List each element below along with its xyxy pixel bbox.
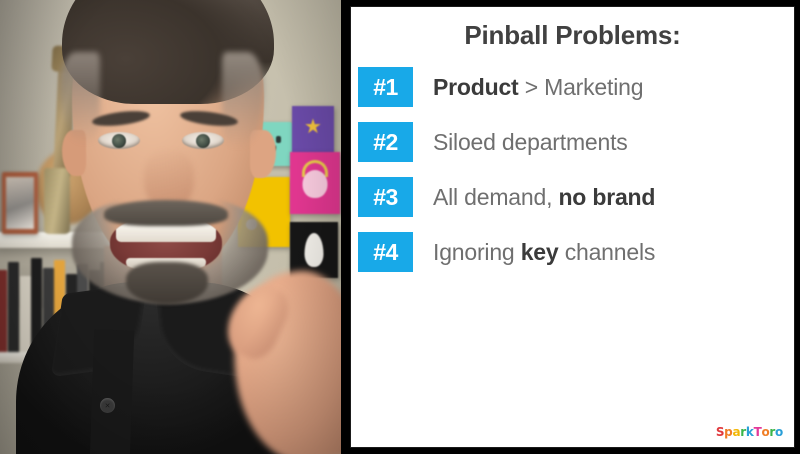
rank-badge-3: #3: [358, 177, 413, 217]
presenter: [0, 0, 341, 454]
logo-letter-4: k: [746, 425, 754, 439]
list-item[interactable]: #3 All demand, no brand: [351, 177, 794, 217]
list-item[interactable]: #1 Product > Marketing: [351, 67, 794, 107]
shirt-button: [100, 398, 115, 413]
webcam-video-pane[interactable]: ★: [0, 0, 341, 454]
problem-rest-4a: Ignoring: [433, 239, 521, 265]
rank-badge-4: #4: [358, 232, 413, 272]
problem-text-3: All demand, no brand: [433, 184, 655, 211]
problem-text-4: Ignoring key channels: [433, 239, 655, 266]
logo-letter-5: T: [754, 425, 762, 439]
sparktoro-logo[interactable]: SparkToro: [716, 425, 783, 439]
page-title: Pinball Problems:: [351, 20, 794, 51]
rank-badge-2: #2: [358, 122, 413, 162]
iris-left: [112, 134, 126, 148]
problem-bold-3: no brand: [558, 184, 655, 210]
logo-letter-1: p: [724, 425, 732, 439]
eye-left: [98, 132, 140, 149]
problem-rest-1: > Marketing: [519, 74, 644, 100]
logo-letter-8: o: [775, 425, 783, 439]
problem-text-2: Siloed departments: [433, 129, 628, 156]
problem-rest-4b: channels: [559, 239, 656, 265]
problem-rest-3: All demand,: [433, 184, 558, 210]
mustache: [104, 200, 228, 226]
logo-letter-6: o: [761, 425, 769, 439]
sideburn-left: [60, 52, 100, 144]
problem-bold-4: key: [521, 239, 559, 265]
problem-list: #1 Product > Marketing #2 Siloed departm…: [351, 67, 794, 272]
problem-text-1: Product > Marketing: [433, 74, 643, 101]
list-item[interactable]: #4 Ignoring key channels: [351, 232, 794, 272]
rank-badge-1: #1: [358, 67, 413, 107]
goatee: [126, 262, 208, 304]
screenshot-root: ★: [0, 0, 800, 454]
logo-letter-0: S: [716, 425, 724, 439]
problem-bold-1: Product: [433, 74, 519, 100]
iris-right: [196, 134, 210, 148]
list-item[interactable]: #2 Siloed departments: [351, 122, 794, 162]
logo-letter-2: a: [732, 425, 740, 439]
eye-right: [182, 132, 224, 149]
slide-canvas: Pinball Problems: #1 Product > Marketing…: [350, 6, 795, 448]
slide-pane: Pinball Problems: #1 Product > Marketing…: [350, 0, 800, 454]
shirt-placket: [90, 329, 135, 454]
ear-right: [250, 130, 276, 178]
panel-divider: [341, 0, 350, 454]
